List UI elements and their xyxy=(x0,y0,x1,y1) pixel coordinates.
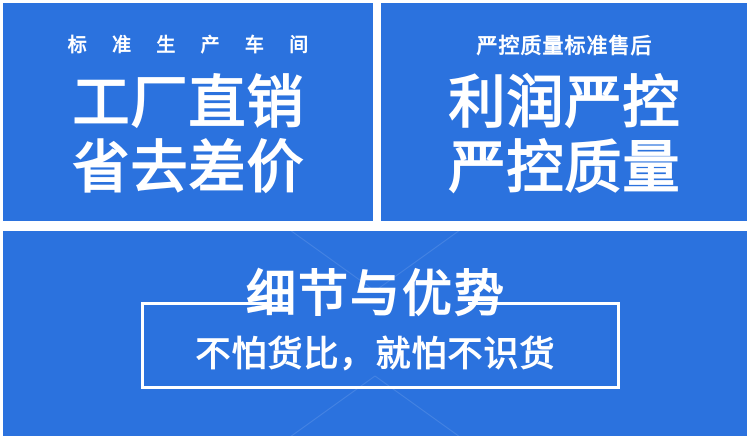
frame-bottom-edge xyxy=(141,386,620,389)
quality-headline-line-2: 严控质量 xyxy=(381,140,747,197)
diagonal-decoration-lines xyxy=(3,231,747,436)
details-title-text: 细节与优势 xyxy=(3,269,747,319)
factory-headline-line-1: 工厂直销 xyxy=(3,75,373,132)
panel-quality-control: 严控质量标准售后 利润严控 严控质量 xyxy=(381,3,747,221)
quality-eyebrow-text: 严控质量标准售后 xyxy=(381,30,747,60)
panel-factory-direct-sales: 标 准 生 产 车 间 工厂直销 省去差价 xyxy=(3,3,373,221)
panel-details-and-advantages: 细节与优势 不怕货比，就怕不识货 xyxy=(3,231,747,436)
quality-headline-line-1: 利润严控 xyxy=(381,75,747,132)
promo-banner-stage: 标 准 生 产 车 间 工厂直销 省去差价 严控质量标准售后 利润严控 严控质量… xyxy=(0,0,750,440)
factory-headline-line-2: 省去差价 xyxy=(3,140,373,197)
details-subtitle-text: 不怕货比，就怕不识货 xyxy=(3,337,747,372)
factory-eyebrow-text: 标 准 生 产 车 间 xyxy=(3,30,373,57)
